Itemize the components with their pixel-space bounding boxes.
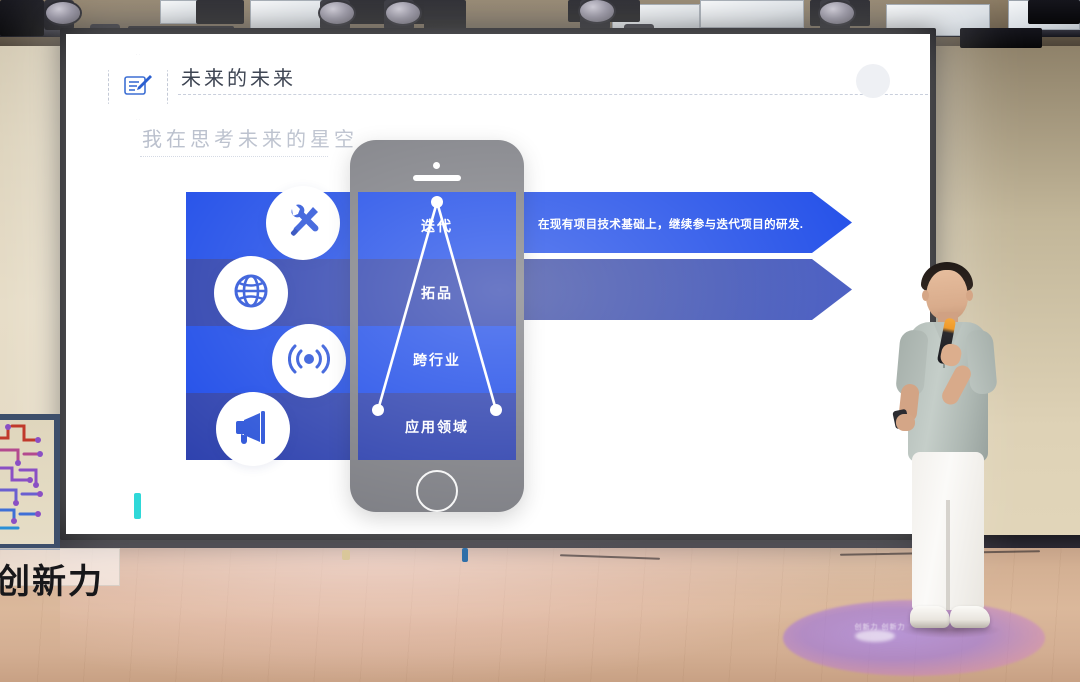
arrow-label-1: 在现有项目技术基础上，继续参与迭代项目的研发. (538, 216, 803, 232)
banner-label: 创新力 (0, 554, 104, 603)
presentation-scene: 未来的未来 我在思考未来的星空 在现有项目技术基础上，继续参与迭代项目的研发. (0, 0, 1080, 682)
icon-bubble-broadcast[interactable] (272, 324, 346, 398)
presenter-ear-left (922, 290, 929, 301)
icon-bubble-globe[interactable] (214, 256, 288, 330)
light-housing-13 (1028, 0, 1080, 24)
phone-camera-dot (433, 162, 440, 169)
light-housing-3 (196, 0, 244, 24)
floor-light-sheen (60, 548, 840, 682)
slide-canvas: 未来的未来 我在思考未来的星空 在现有项目技术基础上，继续参与迭代项目的研发. (66, 34, 930, 534)
phone-label-1: 迭代 (358, 216, 516, 236)
document-edit-icon (123, 73, 153, 101)
spotlight-lens-6 (580, 0, 614, 22)
led-screen[interactable]: 未来的未来 我在思考未来的星空 在现有项目技术基础上，继续参与迭代项目的研发. (66, 34, 930, 534)
light-housing-12 (960, 28, 1042, 48)
title-divider (178, 94, 930, 95)
phone-label-3: 跨行业 (358, 350, 516, 370)
subtitle-divider (140, 156, 328, 157)
icon-bubble-tools[interactable] (266, 186, 340, 260)
phone-label-2: 拓品 (358, 283, 516, 303)
icon-bubble-megaphone[interactable] (216, 392, 290, 466)
spotlight-lens-1 (46, 2, 80, 24)
side-banner (0, 414, 60, 550)
slide-subtitle: 我在思考未来的星空 (142, 123, 358, 152)
light-housing-1 (0, 0, 44, 36)
decorative-circle (856, 64, 890, 98)
presenter-leg-gap (946, 500, 950, 610)
presenter-sleeve-right (965, 329, 997, 395)
phone-screen: 迭代 拓品 跨行业 应用领域 (358, 192, 516, 460)
tools-icon (283, 201, 323, 246)
megaphone-icon (232, 409, 274, 450)
ceiling-panel-3 (700, 0, 804, 28)
presenter-ear-right (966, 290, 973, 301)
presenter (886, 252, 1014, 648)
slide-title: 未来的未来 (181, 62, 296, 91)
phone-label-4: 应用领域 (358, 417, 516, 437)
circuit-graphic (0, 420, 48, 544)
presenter-hand-left (896, 414, 915, 431)
phone-home-button[interactable] (416, 470, 458, 512)
presenter-shoe-right (950, 606, 990, 628)
phone-speaker (413, 175, 461, 181)
spotlight-lens-3 (320, 2, 354, 24)
spotlight-lens-4 (386, 2, 420, 24)
presenter-shoe-left (910, 606, 950, 628)
arrow-shape-2 (516, 259, 852, 320)
floor-object-1 (342, 550, 350, 560)
light-housing-5 (424, 0, 466, 30)
globe-icon (231, 271, 271, 316)
cyan-accent-mark (134, 493, 141, 519)
floor-object-2 (462, 548, 468, 562)
spotlight-lens-8 (820, 2, 854, 24)
broadcast-icon (288, 341, 330, 382)
slide-badge (108, 54, 168, 120)
